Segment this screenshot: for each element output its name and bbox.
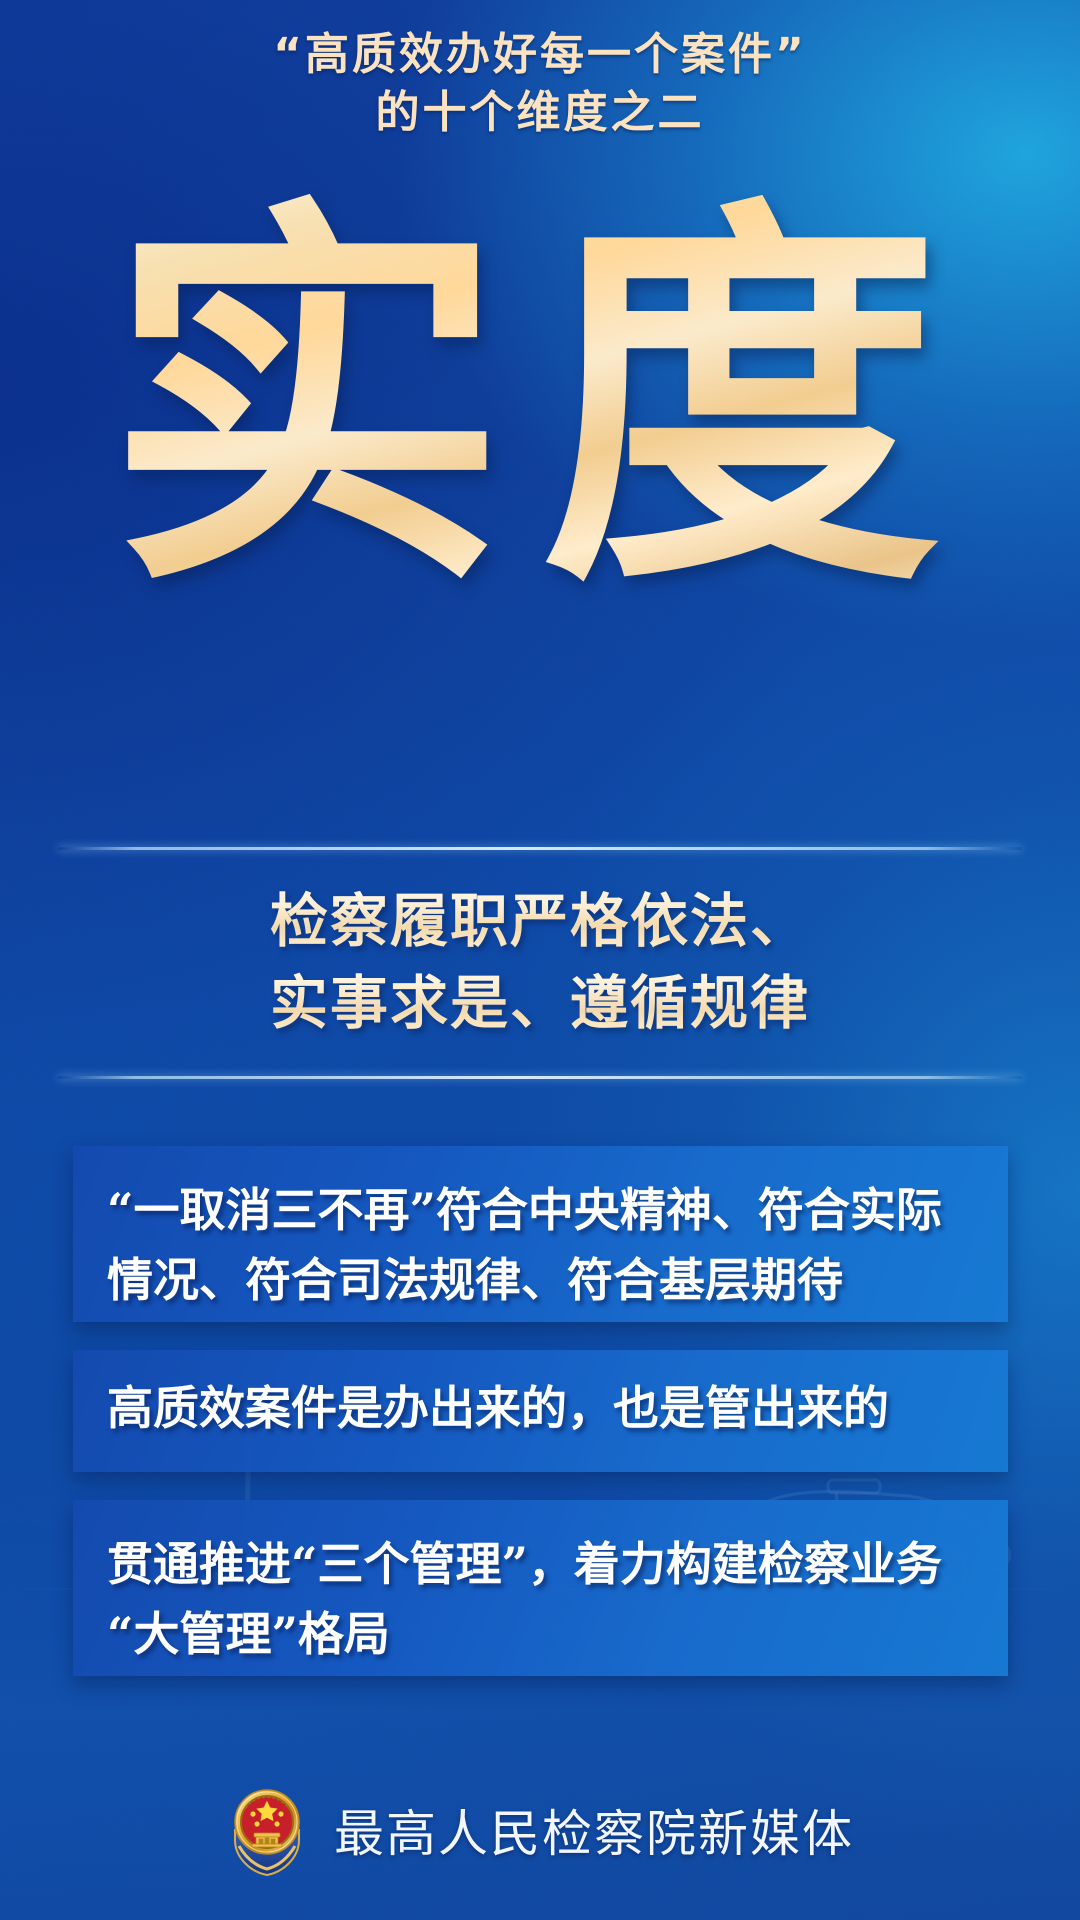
content-card: 高质效案件是办出来的，也是管出来的 <box>73 1350 1008 1472</box>
content-card-text: 贯通推进“三个管理”，着力构建检察业务“大管理”格局 <box>107 1530 974 1670</box>
content-card-text: “一取消三不再”符合中央精神、符合实际情况、符合司法规律、符合基层期待 <box>107 1176 974 1316</box>
supreme-procuratorate-emblem-icon <box>226 1784 308 1876</box>
subtitle-line-2: 实事求是、遵循规律 <box>0 962 1080 1044</box>
poster-header: “高质效办好每一个案件” 的十个维度之二 <box>0 26 1080 142</box>
header-title-line-2: 的十个维度之二 <box>0 84 1080 142</box>
divider-above-subtitle <box>58 847 1022 850</box>
content-card: 贯通推进“三个管理”，着力构建检察业务“大管理”格局 <box>73 1500 1008 1676</box>
poster-subtitle: 检察履职严格依法、 实事求是、遵循规律 <box>0 880 1080 1045</box>
divider-below-subtitle <box>58 1076 1022 1079</box>
content-card: “一取消三不再”符合中央精神、符合实际情况、符合司法规律、符合基层期待 <box>73 1146 1008 1322</box>
hero-keyword: 实度 <box>0 185 1080 655</box>
subtitle-line-1: 检察履职严格依法、 <box>0 880 1080 962</box>
header-title-line-1: “高质效办好每一个案件” <box>0 26 1080 84</box>
poster-footer: 最高人民检察院新媒体 <box>0 1784 1080 1876</box>
content-card-text: 高质效案件是办出来的，也是管出来的 <box>107 1374 889 1444</box>
content-card-list: “一取消三不再”符合中央精神、符合实际情况、符合司法规律、符合基层期待 高质效案… <box>73 1146 1008 1704</box>
poster-root: “高质效办好每一个案件” 的十个维度之二 实度 检察履职严格依法、 实事求是、遵… <box>0 0 1080 1920</box>
footer-publisher-label: 最高人民检察院新媒体 <box>334 1794 854 1866</box>
hero-character-gold: 实度 <box>106 185 974 615</box>
